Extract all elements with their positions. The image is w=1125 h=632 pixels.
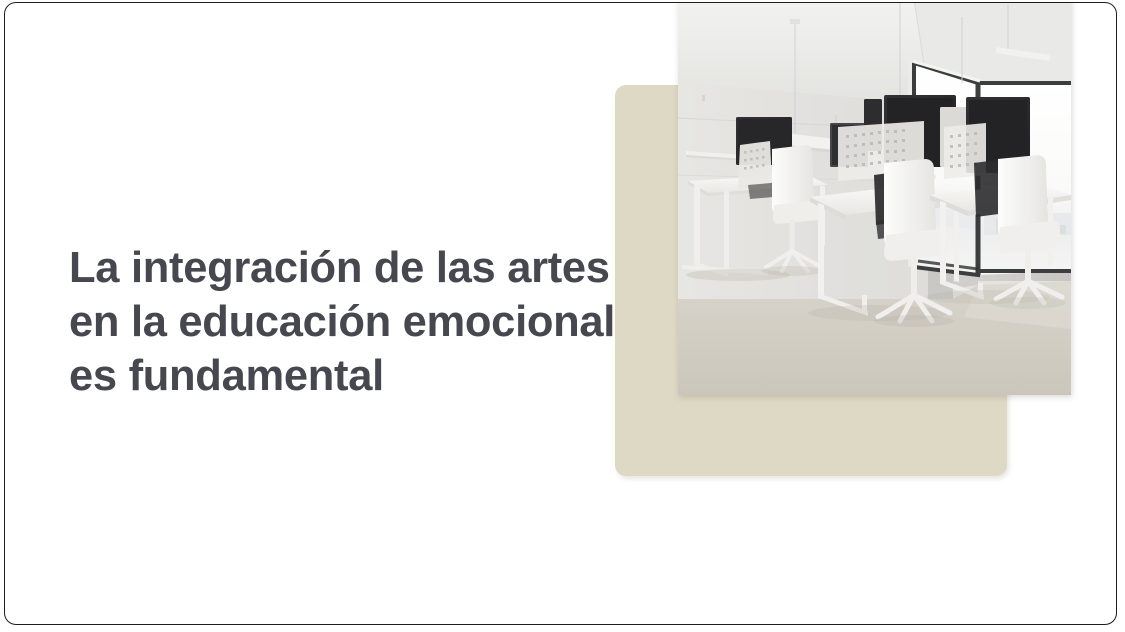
title-line-1: La integración de las artes: [69, 241, 659, 295]
office-photo: [678, 3, 1071, 395]
slide-frame: La integración de las artes en la educac…: [4, 2, 1117, 625]
title-line-3: es fundamental: [69, 349, 659, 403]
slide-canvas: La integración de las artes en la educac…: [5, 3, 1116, 624]
slide-root: La integración de las artes en la educac…: [0, 0, 1125, 632]
page-title: La integración de las artes en la educac…: [69, 241, 659, 403]
title-line-2: en la educación emocional: [69, 295, 659, 349]
office-photo-illustration: [678, 3, 1071, 395]
